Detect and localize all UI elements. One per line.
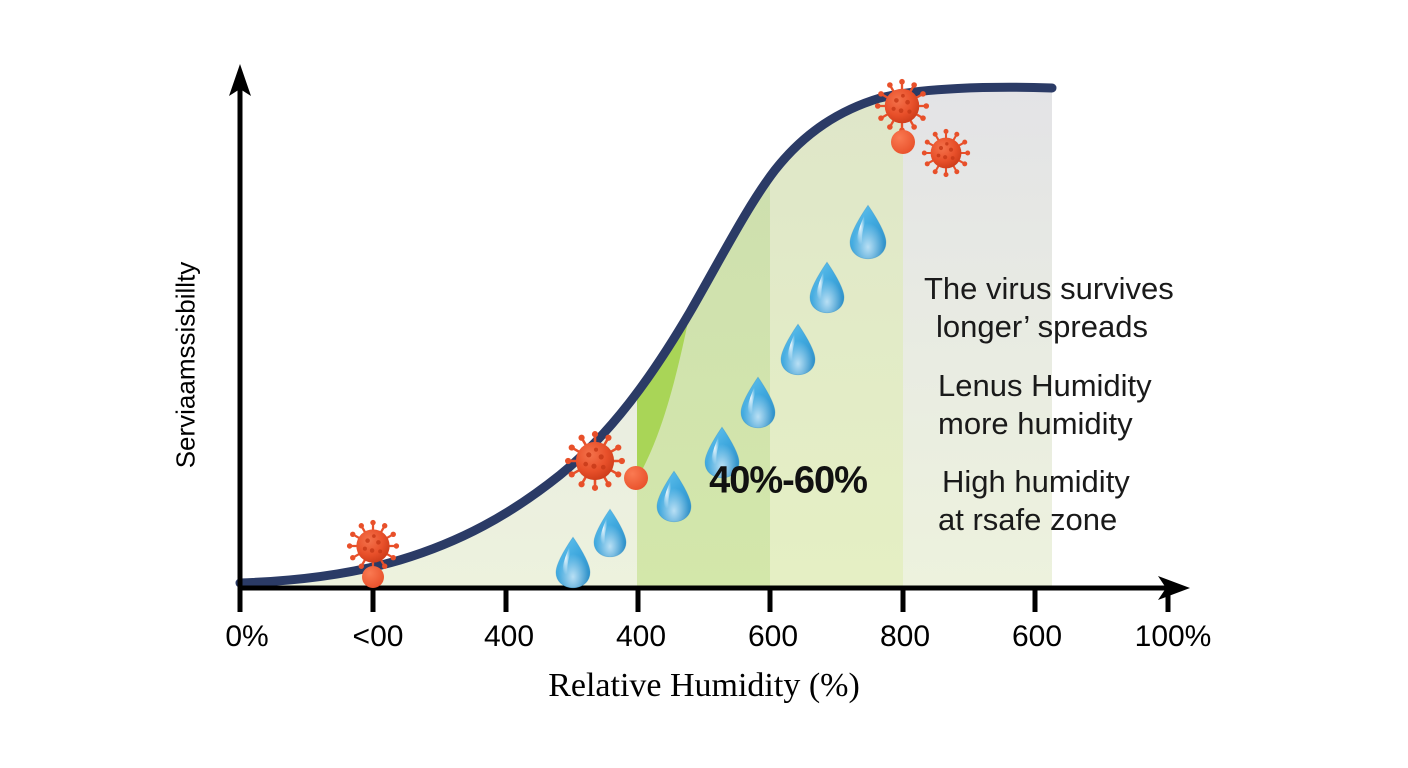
x-tick-label-4: 600 [748, 620, 798, 654]
safe-zone-band-label: 40%-60% [709, 460, 867, 503]
humidity-transmissibility-chart: 0% <00 400 400 600 800 600 100% Relative… [0, 0, 1408, 768]
annotation-humidity-level-line1: Lenus Humidity [938, 367, 1152, 405]
x-tick-label-2: 400 [484, 620, 534, 654]
annotation-virus-survival-line2: longer’ spreads [936, 308, 1174, 346]
x-axis-title: Relative Humidity (%) [548, 667, 860, 705]
low-humidity-point [362, 566, 384, 588]
x-axis-ticks [240, 588, 1168, 612]
annotation-safe-zone-line2: at rsafe zone [938, 501, 1130, 539]
annotation-safe-zone: High humidity at rsafe zone [938, 463, 1130, 539]
x-tick-label-5: 800 [880, 620, 930, 654]
high-humidity-point [891, 130, 915, 154]
x-tick-label-6: 600 [1012, 620, 1062, 654]
x-tick-label-3: 400 [616, 620, 666, 654]
x-tick-label-7: 100% [1135, 620, 1212, 654]
annotation-humidity-level-line2: more humidity [938, 405, 1152, 443]
x-tick-label-1: <00 [353, 620, 404, 654]
annotation-safe-zone-line1: High humidity [942, 463, 1130, 501]
mid-humidity-point [624, 466, 648, 490]
x-tick-label-0: 0% [225, 620, 268, 654]
annotation-humidity-level: Lenus Humidity more humidity [938, 367, 1152, 443]
annotation-virus-survival: The virus survives longer’ spreads [924, 270, 1174, 346]
annotation-virus-survival-line1: The virus survives [924, 270, 1174, 308]
y-axis-title: Serviaamssisbillty [171, 262, 202, 469]
